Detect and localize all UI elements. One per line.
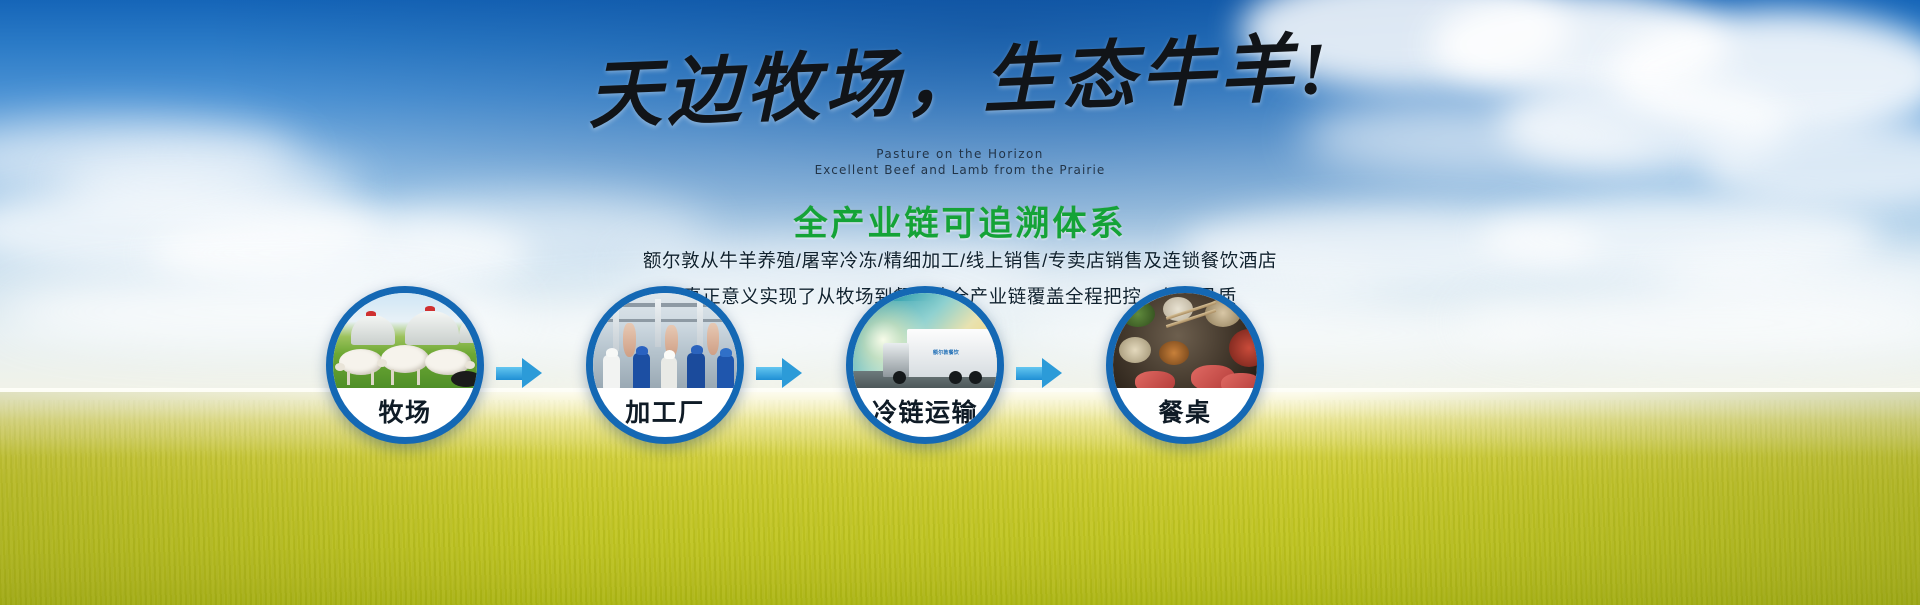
sheep-leg <box>417 369 420 385</box>
step-label-factory: 加工厂 <box>593 393 737 429</box>
sheep-leg <box>391 369 394 385</box>
step-circle-factory[interactable]: 加工厂 <box>586 286 744 444</box>
sheep-head-icon <box>335 363 345 371</box>
dining-table-scene <box>1113 293 1257 388</box>
english-subtitle-line-1: Pasture on the Horizon <box>0 146 1920 162</box>
truck-wheel <box>969 371 982 384</box>
arrow-head <box>1042 358 1062 388</box>
yurt-roof-cap-icon <box>425 306 435 311</box>
arrow-head <box>782 358 802 388</box>
worker-icon <box>633 353 650 388</box>
carcass-icon <box>623 323 636 357</box>
arrow-head <box>522 358 542 388</box>
support-pillar <box>697 299 703 349</box>
worker-hat-icon <box>691 345 703 354</box>
dining-table-photo <box>1113 293 1257 388</box>
worker-icon <box>603 355 620 388</box>
supply-chain-steps: 牧场 <box>0 286 1920 466</box>
step-circle-dining-table[interactable]: 餐桌 <box>1106 286 1264 444</box>
yurt-icon <box>459 317 477 343</box>
worker-icon <box>661 357 677 388</box>
sliced-meat-icon <box>1135 371 1175 388</box>
factory-photo <box>593 293 737 388</box>
support-pillar <box>733 299 737 345</box>
english-subtitle: Pasture on the Horizon Excellent Beef an… <box>0 146 1920 178</box>
english-subtitle-line-2: Excellent Beef and Lamb from the Prairie <box>0 162 1920 178</box>
hotpot-icon <box>1229 329 1257 367</box>
truck-logo-text: 额尔敦餐饮 <box>933 349 959 356</box>
cow-icon <box>451 371 477 387</box>
sheep-leg <box>371 371 374 385</box>
flow-arrow-icon <box>496 358 542 388</box>
pasture-scene <box>333 293 477 388</box>
description-line-1: 额尔敦从牛羊养殖/屠宰冷冻/精细加工/线上销售/专卖店销售及连锁餐饮酒店 <box>0 247 1920 273</box>
yurt-icon <box>405 311 459 345</box>
yurt-roof-cap-icon <box>366 311 376 316</box>
worker-hat-icon <box>606 348 618 357</box>
arrow-shaft <box>756 367 784 380</box>
dish-icon <box>1121 301 1155 327</box>
step-circle-cold-chain[interactable]: 额尔敦餐饮 冷链运输 <box>846 286 1004 444</box>
sheep-head-icon <box>377 359 387 367</box>
cold-chain-scene: 额尔敦餐饮 <box>853 293 997 388</box>
flow-arrow-icon <box>1016 358 1062 388</box>
carcass-icon <box>707 323 719 355</box>
promotional-banner: 天边牧场，生态牛羊! Pasture on the Horizon Excell… <box>0 0 1920 605</box>
sheep-icon <box>381 345 429 373</box>
truck-wheel <box>893 371 906 384</box>
flow-arrow-icon <box>756 358 802 388</box>
support-pillar <box>655 299 661 347</box>
arrow-shaft <box>496 367 524 380</box>
step-label-cold-chain: 冷链运输 <box>853 393 997 429</box>
step-label-pasture: 牧场 <box>333 393 477 429</box>
sheep-leg <box>347 371 350 385</box>
worker-hat-icon <box>636 346 648 355</box>
factory-scene <box>593 293 737 388</box>
cold-chain-photo: 额尔敦餐饮 <box>853 293 997 388</box>
truck-wheel <box>949 371 962 384</box>
step-label-dining-table: 餐桌 <box>1113 393 1257 429</box>
section-title-green: 全产业链可追溯体系 <box>0 196 1920 245</box>
sliced-meat-icon <box>1221 373 1257 388</box>
dish-icon <box>1119 337 1151 363</box>
support-pillar <box>613 299 619 351</box>
sheep-head-icon <box>465 361 475 369</box>
yurt-icon <box>351 315 395 345</box>
dish-icon <box>1159 341 1189 365</box>
worker-hat-icon <box>720 348 732 357</box>
worker-icon <box>687 353 705 388</box>
step-circle-pasture[interactable]: 牧场 <box>326 286 484 444</box>
worker-icon <box>717 355 734 388</box>
pasture-photo <box>333 293 477 388</box>
arrow-shaft <box>1016 367 1044 380</box>
worker-hat-icon <box>664 350 675 359</box>
